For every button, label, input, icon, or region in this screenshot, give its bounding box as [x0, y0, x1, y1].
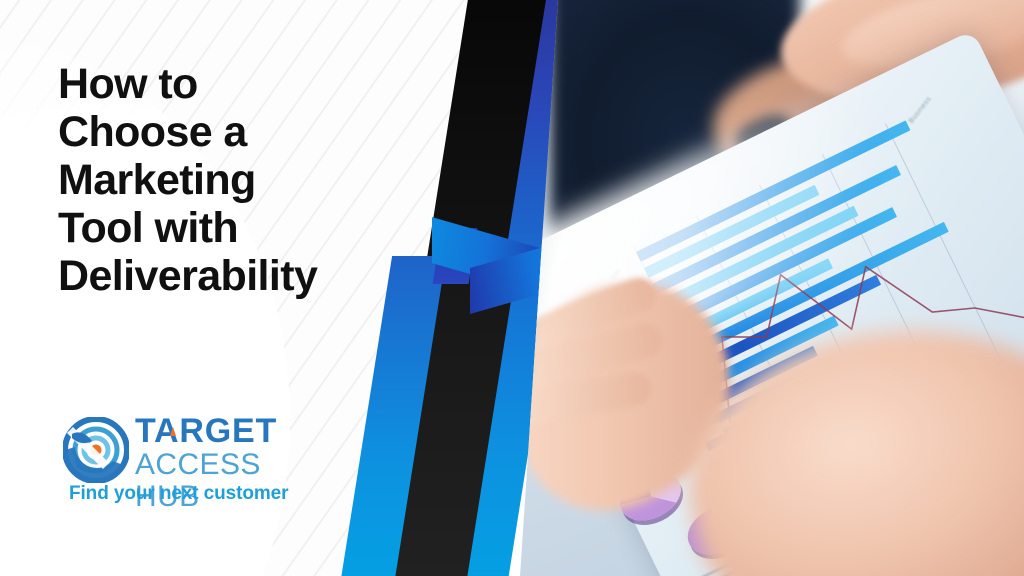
headline-line-3: Marketing — [58, 156, 430, 204]
headline-line-2: Choose a — [58, 108, 430, 156]
brand-name-primary: TARGET — [135, 415, 277, 448]
orange-dart-accent-icon — [170, 427, 176, 436]
headline-line-1: How to — [58, 60, 430, 108]
banner-canvas: How to Choose a Marketing Tool with Deli… — [0, 0, 1024, 576]
hero-photo: Jan Mar May Jul Sep Business — [520, 0, 1024, 576]
brand-name-primary-text: TARGET — [135, 412, 277, 450]
page-title: How to Choose a Marketing Tool with Deli… — [58, 60, 430, 300]
target-bullseye-with-hand-icon — [63, 417, 129, 483]
brand-tagline: Find your next customer — [69, 483, 329, 505]
headline-line-4: Tool with — [58, 204, 430, 252]
headline-line-5: Deliverability — [58, 252, 430, 300]
brand-logo[interactable]: TARGET ACCESS HUB Find your next custome… — [63, 415, 313, 510]
